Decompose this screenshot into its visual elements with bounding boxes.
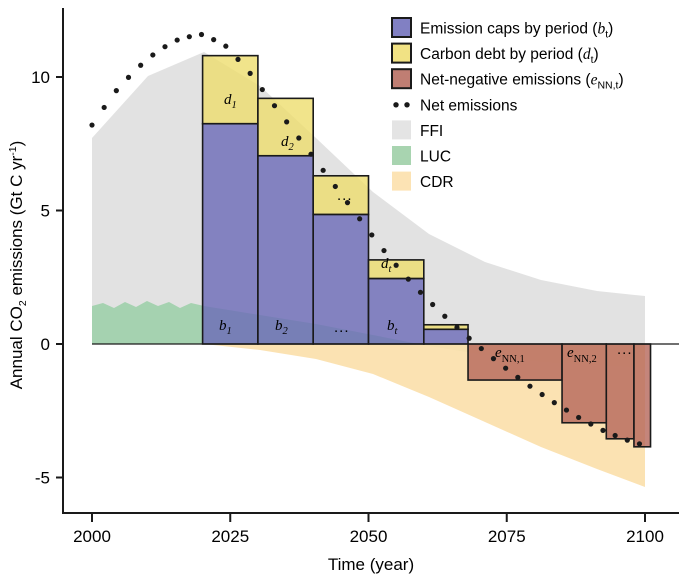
legend-swatch-net_emissions-dot1 [393,102,398,107]
net-emission-dot [637,441,642,446]
legend-label-ffi: FFI [420,123,443,140]
debt-bar-b1[interactable] [203,56,258,124]
y-tick-label-10: 10 [31,68,50,87]
legend-swatch-luc [392,146,411,165]
net-emission-dot [284,119,289,124]
net-emission-dot [406,277,411,282]
net-emission-dot [357,216,362,221]
net-emission-dot [576,415,581,420]
legend-swatch-net_emissions-dot2 [404,102,409,107]
net-emission-dot [381,248,386,253]
net-emission-dot [527,384,532,389]
x-axis-title: Time (year) [328,555,414,574]
net-emission-dot [613,433,618,438]
legend-label-net_emissions: Net emissions [420,97,518,114]
legend-swatch-net_negative [392,69,411,88]
net-emission-dot [467,336,472,341]
net-emission-dot [126,75,131,80]
x-tick-label-2050: 2050 [350,527,388,546]
netneg-bar-ennt[interactable] [634,344,651,447]
legend-label-luc: LUC [420,149,451,166]
cap-bar-b2[interactable] [258,156,313,344]
net-emission-dot [89,122,94,127]
net-emission-dot [369,232,374,237]
y-tick-label-5: 5 [41,202,50,221]
net-emission-dot [187,34,192,39]
y-tick-label--5: -5 [35,469,50,488]
net-emission-dot [552,400,557,405]
net-emission-dot [442,314,447,319]
net-emission-dot [321,168,326,173]
net-emission-dot [114,88,119,93]
net-emission-dot [272,103,277,108]
net-emission-dot [588,421,593,426]
net-emission-dot [564,407,569,412]
net-emission-dot [138,63,143,68]
net-emission-dot [430,302,435,307]
net-emission-dot [199,32,204,37]
net-emission-dot [600,428,605,433]
legend-swatch-carbon_debt [392,44,411,63]
net-emission-dot [211,37,216,42]
net-emission-dot [308,152,313,157]
legend-swatch-ffi [392,120,411,139]
net-emission-dot [394,263,399,268]
net-emission-dot [102,105,107,110]
emissions-chart: d1 d2 ... dt b1 b2 ... bt eNN,1 eNN,2 ..… [0,0,679,580]
net-emission-dot [479,346,484,351]
net-emission-dot [418,290,423,295]
net-emission-dot [515,375,520,380]
figure-root: d1 d2 ... dt b1 b2 ... bt eNN,1 eNN,2 ..… [0,0,679,580]
net-emission-dot [235,57,240,62]
cap-bar-bt1[interactable] [424,329,468,344]
net-emission-dot [150,52,155,57]
net-emission-dot [540,392,545,397]
y-tick-label-0: 0 [41,335,50,354]
legend-label-carbon_debt: Carbon debt by period (dt) [420,46,599,66]
legend-swatch-emission_caps [392,18,411,37]
net-emission-dot [248,71,253,76]
net-emission-dot [296,135,301,140]
x-tick-label-2100: 2100 [626,527,664,546]
net-emission-dot [454,325,459,330]
label-ellipsis-debt: ... [337,187,353,204]
x-tick-label-2025: 2025 [211,527,249,546]
net-emission-dot [162,44,167,49]
net-emission-dot [503,366,508,371]
label-ellipsis-cap: ... [334,319,350,336]
x-tick-label-2000: 2000 [73,527,111,546]
net-emission-dot [223,44,228,49]
net-emission-dot [260,87,265,92]
net-emission-dot [175,37,180,42]
netneg-bar-enn3[interactable] [606,344,634,439]
y-axis-title: Annual CO2 emissions (Gt C yr-1) [7,141,29,390]
net-emission-dot [625,438,630,443]
cap-bar-b1[interactable] [203,124,258,344]
x-tick-label-2075: 2075 [488,527,526,546]
legend-label-cdr: CDR [420,174,454,191]
legend-swatch-cdr [392,172,411,191]
legend-label-net_negative: Net-negative emissions (eNN,t) [420,72,624,92]
